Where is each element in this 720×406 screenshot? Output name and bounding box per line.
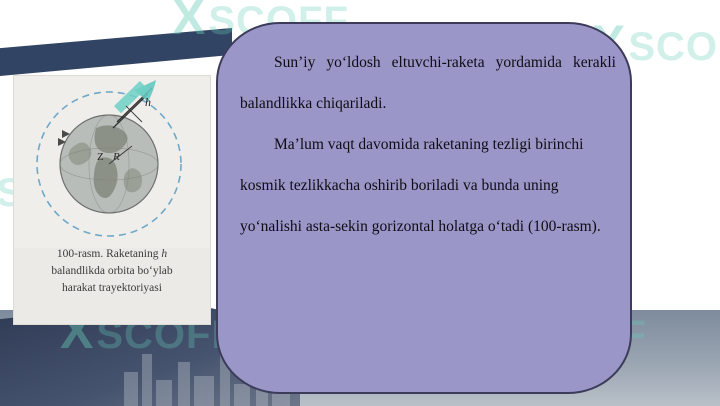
paragraph-2: Ma’lum vaqt davomida raketaning tezligi …	[240, 124, 616, 247]
blue-stripe-decoration	[0, 28, 232, 76]
height-label-h: h	[145, 95, 151, 109]
paragraph-1: Sun’iy yo‘ldosh eltuvchi-raketa yordamid…	[240, 42, 616, 124]
figure-image: h Z R 100-rasm. Raketaning h balandlikda…	[14, 76, 210, 324]
figure-caption-italic: h	[161, 248, 167, 260]
figure-caption-line-2: balandlikda orbita bo‘ylab	[14, 263, 210, 280]
text-panel: Sun’iy yo‘ldosh eltuvchi-raketa yordamid…	[216, 22, 632, 394]
slide-canvas: ΧSCOFF ΧSCOFF ΧSCOFF ΧSCOFF ΧSCOFF ΧSCOF…	[0, 0, 720, 406]
watermark-text: SCOFF	[628, 25, 720, 69]
figure-caption-prefix: 100-rasm. Raketaning	[57, 248, 161, 260]
figure-caption: 100-rasm. Raketaning h balandlikda orbit…	[14, 246, 210, 297]
earth-orbit-svg: h Z R	[14, 76, 210, 248]
center-label-Z: Z	[97, 151, 104, 163]
figure-caption-line-1: 100-rasm. Raketaning h	[14, 246, 210, 263]
earth-orbit-illustration: h Z R	[14, 76, 210, 248]
text-panel-content: Sun’iy yo‘ldosh eltuvchi-raketa yordamid…	[240, 42, 616, 380]
figure-caption-line-3: harakat trayektoriyasi	[14, 280, 210, 297]
